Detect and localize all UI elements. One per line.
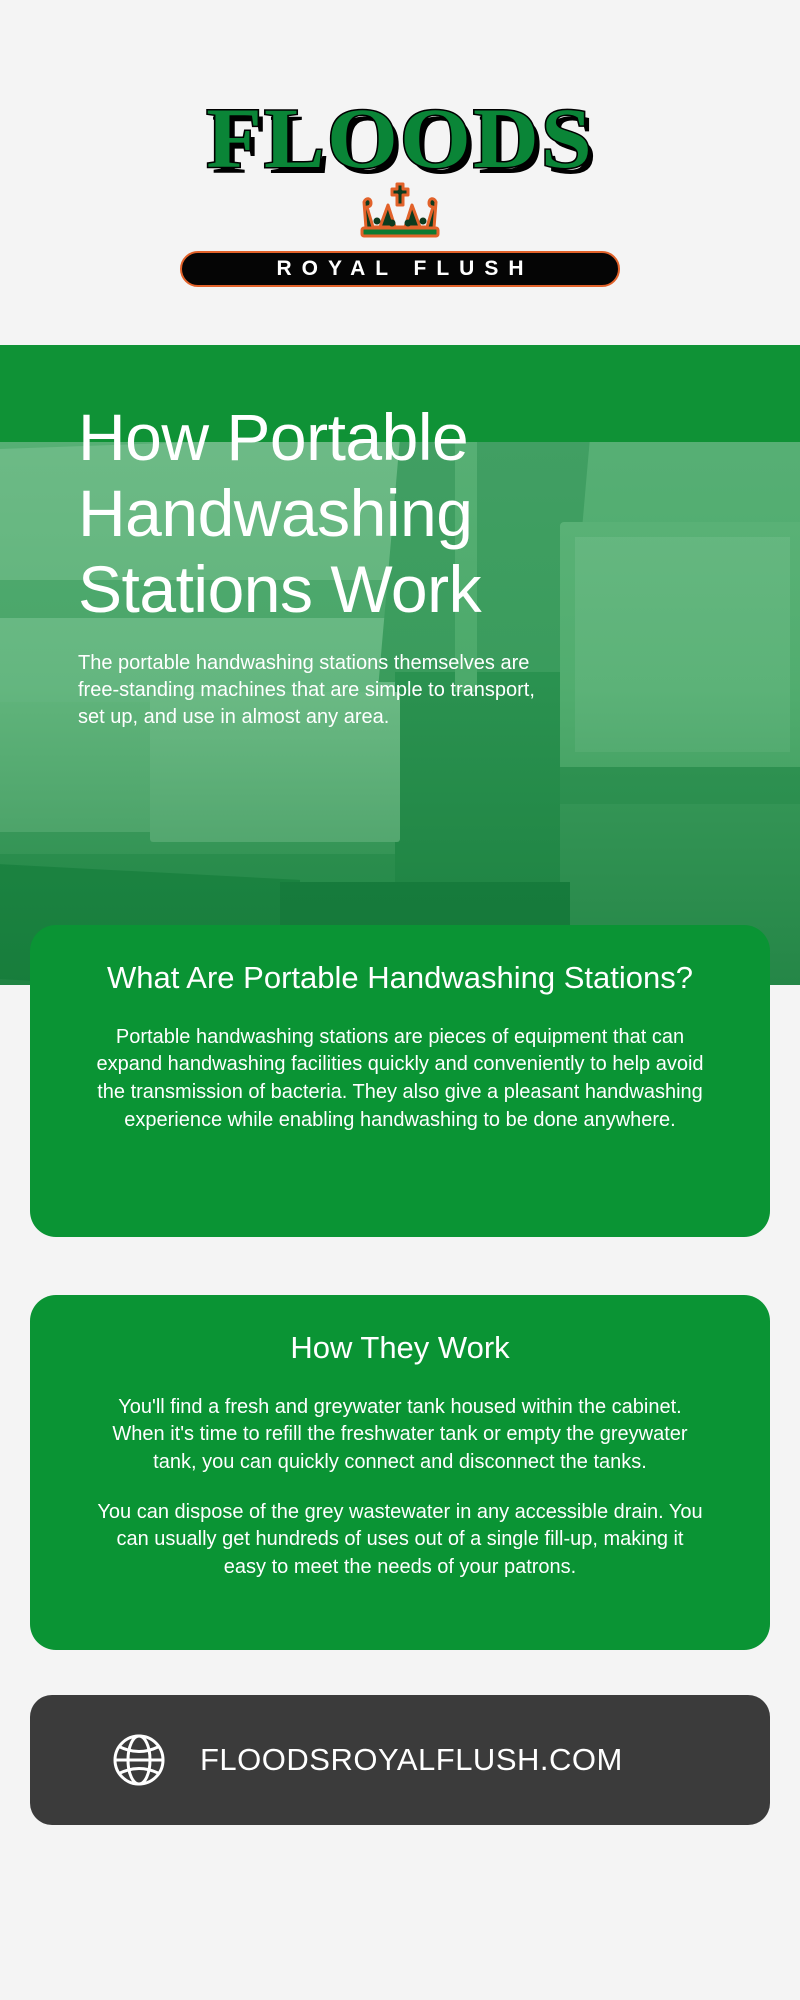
card-paragraph: You'll find a fresh and greywater tank h… xyxy=(95,1394,705,1477)
globe-icon xyxy=(112,1733,166,1787)
crown-icon xyxy=(350,178,450,240)
hero-title: How Portable Handwashing Stations Work xyxy=(78,400,548,628)
logo-header: FLOODS ROYAL FLUSH xyxy=(0,0,800,345)
info-card-what-are-portable-handwashing-stations: What Are Portable Handwashing Stations? … xyxy=(30,925,770,1237)
card-paragraph: Portable handwashing stations are pieces… xyxy=(95,1024,705,1134)
info-card-how-they-work: How They Work You'll find a fresh and gr… xyxy=(30,1295,770,1650)
hero-content: How Portable Handwashing Stations Work T… xyxy=(0,345,800,985)
infographic-page: FLOODS ROYAL FLUSH xyxy=(0,0,800,2000)
royal-flush-banner: ROYAL FLUSH xyxy=(180,251,620,287)
hero-section: How Portable Handwashing Stations Work T… xyxy=(0,345,800,985)
royal-flush-banner-text: ROYAL FLUSH xyxy=(266,257,533,281)
footer-website-bar[interactable]: FLOODSROYALFLUSH.COM xyxy=(30,1695,770,1825)
hero-subtitle: The portable handwashing stations themse… xyxy=(78,650,553,731)
brand-wordmark: FLOODS xyxy=(0,95,800,181)
footer-url-text: FLOODSROYALFLUSH.COM xyxy=(200,1742,623,1778)
card-title: How They Work xyxy=(70,1329,730,1368)
card-title: What Are Portable Handwashing Stations? xyxy=(70,959,730,998)
card-paragraph: You can dispose of the grey wastewater i… xyxy=(95,1499,705,1582)
